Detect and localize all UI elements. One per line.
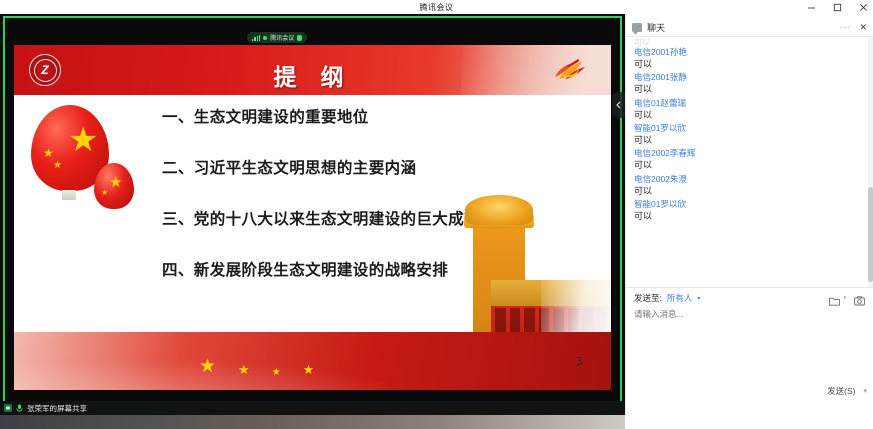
star-icon: ★ <box>53 161 62 171</box>
presentation-slide: Z 提 纲 ★ ★ <box>14 45 611 390</box>
floating-meeting-pill[interactable]: 腾讯会议 <box>247 32 307 43</box>
chat-message-scroll-area[interactable]: 可以 电信2001孙艳 可以 电信2001张静 可以 电信01赵蕾瑞 可以 智能… <box>626 37 873 307</box>
star-icon: ★ <box>272 367 281 378</box>
chat-message: 电信01赵蕾瑞 可以 <box>634 99 865 120</box>
slide-page-number: 3 <box>576 355 583 368</box>
message-sender: 电信01赵蕾瑞 <box>634 99 865 108</box>
chat-panel-title: 聊天 <box>647 21 665 34</box>
chevron-left-icon <box>616 101 621 109</box>
star-icon: ★ <box>199 355 216 378</box>
chat-message: 智能01罗以欣 可以 <box>634 200 865 221</box>
send-to-label: 发送至: <box>634 292 662 304</box>
minimize-icon[interactable] <box>805 1 817 13</box>
chat-message: 电信2002朱澄 可以 <box>634 175 865 196</box>
message-sender: 电信2001孙艳 <box>634 48 865 57</box>
screenshot-icon[interactable] <box>854 293 865 303</box>
message-sender: 电信2002李春辉 <box>634 149 865 158</box>
chat-message-list: 电信2001孙艳 可以 电信2001张静 可以 电信01赵蕾瑞 可以 智能01罗… <box>626 44 873 222</box>
star-icon: ★ <box>101 189 108 197</box>
chat-panel: 聊天 ··· ✕ 可以 电信2001孙艳 可以 电信2001张静 可以 电信01… <box>625 14 873 415</box>
chat-message: 电信2001孙艳 可以 <box>634 48 865 69</box>
window-title: 腾讯会议 <box>420 2 454 13</box>
star-icon: ★ <box>303 362 315 378</box>
outline-item-2: 二、习近平生态文明思想的主要内涵 <box>162 156 582 178</box>
star-icon: ★ <box>68 123 98 157</box>
chat-panel-header: 聊天 ··· ✕ <box>626 18 873 37</box>
share-status-bar: 张荣军的屏幕共享 <box>0 401 625 415</box>
hot-air-balloon-icon: ★ ★ ★ ★ ★ <box>16 101 136 231</box>
slide-title: 提 纲 <box>14 58 611 92</box>
chevron-down-icon[interactable]: ▾ <box>697 295 700 302</box>
message-sender: 电信2002朱澄 <box>634 175 865 184</box>
meeting-window: 腾讯会议 Z 提 纲 <box>0 0 873 429</box>
huabiao-pillar-top-graphic <box>465 195 533 225</box>
chat-message: 电信2002李春辉 可以 <box>634 149 865 170</box>
floating-pill-label: 腾讯会议 <box>270 33 294 42</box>
message-text: 可以 <box>634 161 865 170</box>
share-owner-label: 张荣军的屏幕共享 <box>27 403 87 414</box>
chat-bubble-icon <box>632 23 642 32</box>
screen-share-stage: Z 提 纲 ★ ★ <box>0 14 625 415</box>
message-text: 可以 <box>634 111 865 120</box>
file-attach-icon[interactable] <box>829 293 840 303</box>
stage-collapse-button[interactable] <box>612 92 625 118</box>
star-icon: ★ <box>43 147 54 159</box>
chat-more-button[interactable]: ··· <box>839 22 851 32</box>
file-attach-chevron-icon[interactable]: ▾ <box>843 295 846 301</box>
message-sender: 电信2001张静 <box>634 73 865 82</box>
shared-screen-content: Z 提 纲 ★ ★ <box>5 18 620 415</box>
send-controls: 发送(S) ▾ <box>824 384 867 398</box>
slide-header-band: Z 提 纲 <box>14 45 611 95</box>
window-titlebar: 腾讯会议 <box>0 0 873 14</box>
hammer-sickle-flame-icon <box>549 55 589 85</box>
chat-close-button[interactable]: ✕ <box>859 22 867 33</box>
send-options-chevron-icon[interactable]: ▾ <box>863 387 867 395</box>
close-icon[interactable] <box>857 1 869 13</box>
recording-dot-icon <box>263 36 267 40</box>
slide-footer-ribbon: ★ ★ ★ ★ <box>14 332 611 390</box>
compose-toolbar: 发送至: 所有人 ▾ ▾ <box>626 288 873 308</box>
maximize-icon[interactable] <box>831 1 843 13</box>
chat-compose-area: 发送至: 所有人 ▾ ▾ 发送(S) ▾ <box>626 287 873 401</box>
signal-bars-icon <box>252 35 260 41</box>
chat-message: 电信2001张静 可以 <box>634 73 865 94</box>
star-icon: ★ <box>238 362 250 378</box>
chat-scrollbar-thumb[interactable] <box>868 187 873 282</box>
message-text: 可以 <box>634 187 865 196</box>
app-icon <box>3 404 12 413</box>
microphone-icon[interactable] <box>15 404 24 413</box>
desktop-bottom-strip <box>0 415 873 429</box>
send-to-target-dropdown[interactable]: 所有人 <box>667 292 693 304</box>
microphone-icon[interactable] <box>297 35 302 41</box>
message-text: 可以 <box>634 85 865 94</box>
star-icon: ★ <box>109 175 122 190</box>
message-text: 可以 <box>634 60 865 69</box>
chat-message: 智能01罗以欣 可以 <box>634 124 865 145</box>
footer-stars: ★ ★ ★ ★ <box>199 355 314 378</box>
message-sender: 智能01罗以欣 <box>634 200 865 209</box>
chat-message-input[interactable] <box>634 308 862 368</box>
message-text: 可以 <box>634 212 865 221</box>
chat-scrollbar-track[interactable] <box>868 37 873 307</box>
send-button[interactable]: 发送(S) <box>824 384 858 398</box>
desktop-background-strip <box>0 415 625 429</box>
message-sender: 智能01罗以欣 <box>634 124 865 133</box>
window-controls <box>805 0 869 14</box>
message-text: 可以 <box>634 136 865 145</box>
outline-item-1: 一、生态文明建设的重要地位 <box>162 105 582 127</box>
